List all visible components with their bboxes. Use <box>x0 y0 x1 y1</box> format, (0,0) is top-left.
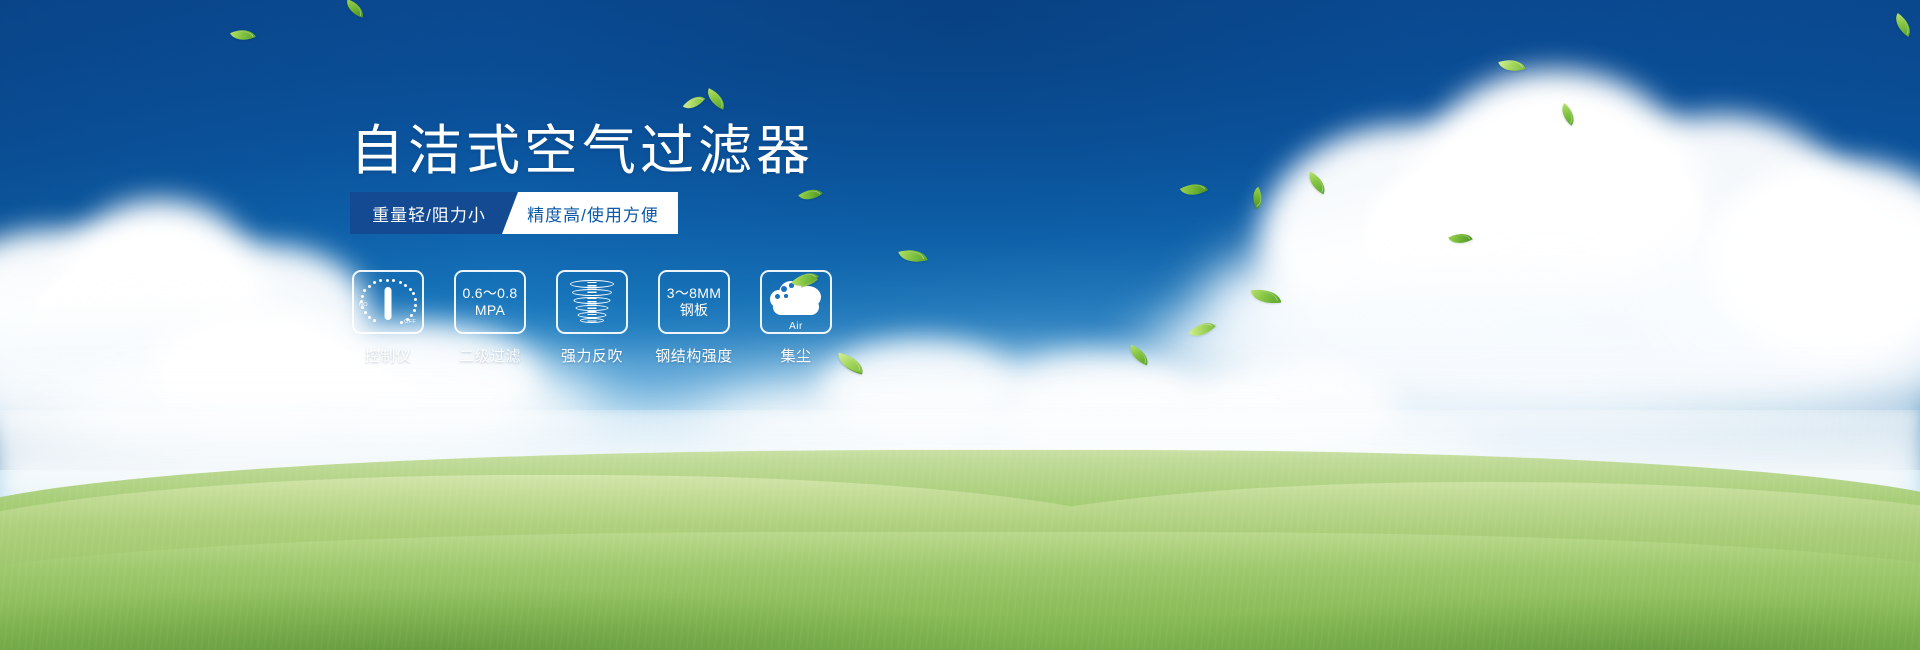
feature-list: NO OFF 控制仪 0.6～0.8 MPA 二级过滤 <box>352 270 832 366</box>
cloud-air-icon: Air <box>769 281 823 319</box>
gauge-needle <box>385 287 392 320</box>
hero-banner: 自洁式空气过滤器 重量轻/阻力小 精度高/使用方便 <box>0 0 1920 650</box>
feature-icon-box: 0.6～0.8 MPA <box>454 270 526 334</box>
feature-item-controller[interactable]: NO OFF 控制仪 <box>352 270 424 366</box>
steel-material: 钢板 <box>680 302 709 319</box>
feature-icon-box <box>556 270 628 334</box>
feature-label: 控制仪 <box>365 345 412 366</box>
banner-content: 自洁式空气过滤器 重量轻/阻力小 精度高/使用方便 <box>0 0 1920 650</box>
pressure-unit: MPA <box>475 302 505 319</box>
badge-left[interactable]: 重量轻/阻力小 <box>350 192 518 234</box>
pressure-value: 0.6～0.8 <box>462 285 517 302</box>
feature-icon-box: 3～8MM 钢板 <box>658 270 730 334</box>
feature-item-steel[interactable]: 3～8MM 钢板 钢结构强度 <box>658 270 730 366</box>
cloud-air-caption: Air <box>769 321 823 332</box>
feature-label: 强力反吹 <box>561 345 623 366</box>
feature-label: 集尘 <box>780 345 811 366</box>
gauge-label-off: OFF <box>404 319 416 325</box>
feature-item-pressure[interactable]: 0.6～0.8 MPA 二级过滤 <box>454 270 526 366</box>
page-title: 自洁式空气过滤器 <box>350 121 814 181</box>
gauge-label-no: NO <box>359 302 368 308</box>
filter-coil-icon <box>567 278 617 326</box>
feature-label: 二级过滤 <box>459 345 521 366</box>
gauge-icon: NO OFF <box>361 278 415 326</box>
badge-right[interactable]: 精度高/使用方便 <box>502 192 678 234</box>
feature-icon-box: NO OFF <box>352 270 424 334</box>
feature-label: 钢结构强度 <box>655 345 733 366</box>
steel-thickness: 3～8MM <box>667 285 721 302</box>
badge-row: 重量轻/阻力小 精度高/使用方便 <box>350 192 678 234</box>
feature-item-backblow[interactable]: 强力反吹 <box>556 270 628 366</box>
